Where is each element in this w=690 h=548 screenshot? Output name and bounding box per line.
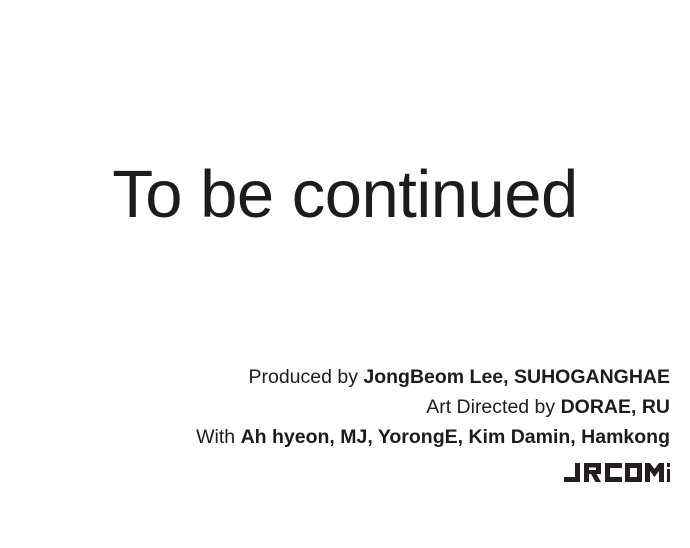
credit-line-art-directed-by: Art Directed by DORAE, RU <box>30 392 670 422</box>
credit-label: With <box>196 426 240 448</box>
credit-label: Produced by <box>248 366 363 388</box>
credit-names: Ah hyeon, MJ, YorongE, Kim Damin, Hamkon… <box>241 426 670 448</box>
jrcomix-logo-icon <box>564 463 670 487</box>
credit-names: DORAE, RU <box>561 396 670 418</box>
credit-label: Art Directed by <box>426 396 560 418</box>
credit-line-with: With Ah hyeon, MJ, YorongE, Kim Damin, H… <box>30 422 670 452</box>
studio-logo: JRCOMIX <box>564 463 670 487</box>
credit-line-produced-by: Produced by JongBeom Lee, SUHOGANGHAE <box>30 362 670 392</box>
end-card: To be continued Produced by JongBeom Lee… <box>0 0 690 548</box>
page-title: To be continued <box>0 160 690 230</box>
credits-block: Produced by JongBeom Lee, SUHOGANGHAE Ar… <box>30 362 670 452</box>
credit-names: JongBeom Lee, SUHOGANGHAE <box>363 366 670 388</box>
